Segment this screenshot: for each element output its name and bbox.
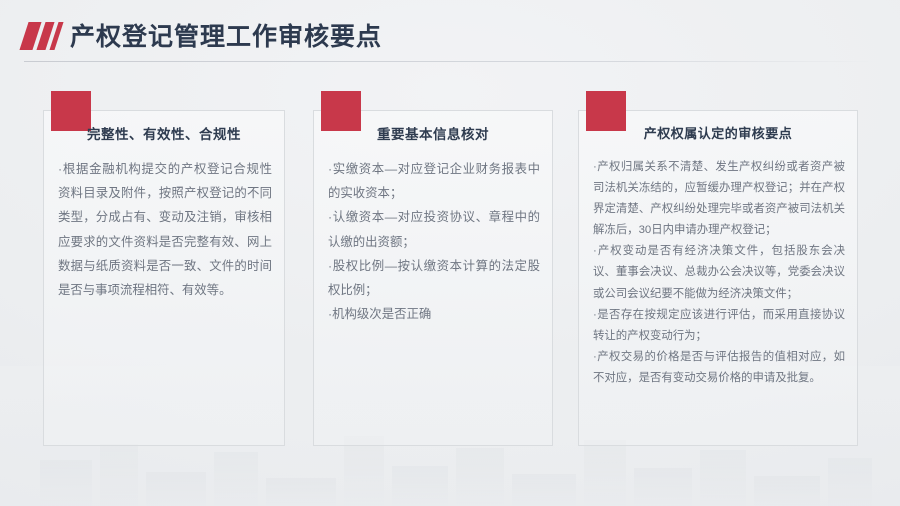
card-body-text: ·根据金融机构提交的产权登记合规性资料目录及附件，按照产权登记的不同类型，分成占… [58, 157, 272, 302]
card-title: 完整性、有效性、合规性 [44, 123, 284, 143]
card-ownership-review[interactable]: 产权权属认定的审核要点 ·产权归属关系不清楚、发生产权纠纷或者资产被司法机关冻结… [578, 110, 858, 446]
card-body-line: ·机构级次是否正确 [328, 302, 540, 326]
card-body: ·产权归属关系不清楚、发生产权纠纷或者资产被司法机关冻结的，应暂缓办理产权登记；… [593, 157, 845, 389]
card-title: 产权权属认定的审核要点 [579, 123, 857, 142]
card-body-line: ·认缴资本—对应投资协议、章程中的认缴的出资额； [328, 205, 540, 253]
card-body-line: ·产权归属关系不清楚、发生产权纠纷或者资产被司法机关冻结的，应暂缓办理产权登记；… [593, 157, 845, 241]
card-completeness[interactable]: 完整性、有效性、合规性 ·根据金融机构提交的产权登记合规性资料目录及附件，按照产… [43, 110, 285, 446]
card-body: ·根据金融机构提交的产权登记合规性资料目录及附件，按照产权登记的不同类型，分成占… [58, 157, 272, 302]
card-body-line: ·是否存在按规定应该进行评估，而采用直接协议转让的产权变动行为； [593, 305, 845, 347]
card-basic-info[interactable]: 重要基本信息核对 ·实缴资本—对应登记企业财务报表中的实收资本；·认缴资本—对应… [313, 110, 553, 446]
card-body-line: ·产权交易的价格是否与评估报告的值相对应，如不对应，是否有变动交易价格的申请及批… [593, 347, 845, 389]
card-title: 重要基本信息核对 [314, 123, 552, 143]
cards-container: 完整性、有效性、合规性 ·根据金融机构提交的产权登记合规性资料目录及附件，按照产… [0, 0, 900, 506]
card-body-text: ·实缴资本—对应登记企业财务报表中的实收资本；·认缴资本—对应投资协议、章程中的… [328, 157, 540, 326]
slide-canvas: 产权登记管理工作审核要点 完整性、有效性、合规性 ·根据金融机构提交的产权登记合… [0, 0, 900, 506]
card-body-line: ·产权变动是否有经济决策文件，包括股东会决议、董事会决议、总裁办公会决议等，党委… [593, 241, 845, 304]
card-body-line: ·股权比例—按认缴资本计算的法定股权比例； [328, 254, 540, 302]
card-body-line: ·实缴资本—对应登记企业财务报表中的实收资本； [328, 157, 540, 205]
card-body: ·实缴资本—对应登记企业财务报表中的实收资本；·认缴资本—对应投资协议、章程中的… [328, 157, 540, 326]
card-body-text: ·产权归属关系不清楚、发生产权纠纷或者资产被司法机关冻结的，应暂缓办理产权登记；… [593, 157, 845, 389]
